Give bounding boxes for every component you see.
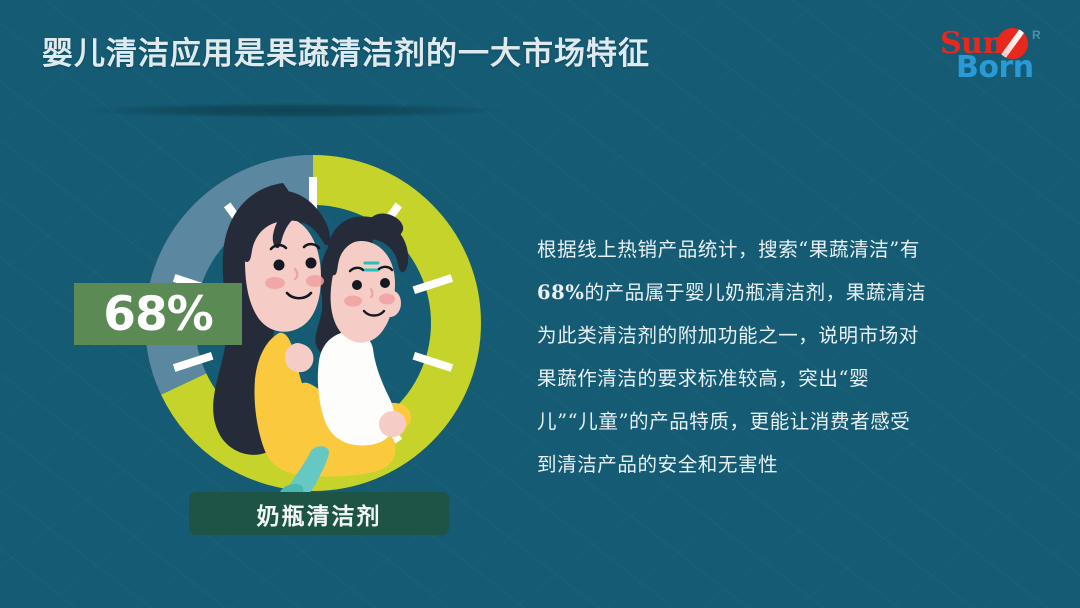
- slide-canvas: 婴儿清洁应用是果蔬清洁剂的一大市场特征 Sun Born R: [0, 0, 1080, 608]
- paragraph-line-2: 68%的产品属于婴儿奶瓶清洁剂，果蔬清洁: [537, 271, 1017, 314]
- child-blush-right: [379, 294, 395, 305]
- mother-blush-right: [306, 275, 324, 287]
- page-title: 婴儿清洁应用是果蔬清洁剂的一大市场特征: [42, 28, 650, 73]
- mother-blush-left: [265, 277, 285, 289]
- percentage-badge: 68%: [74, 283, 242, 345]
- paragraph-line-2-rest: 的产品属于婴儿奶瓶清洁剂，果蔬清洁: [584, 281, 926, 304]
- child-eye-left: [352, 280, 362, 290]
- paragraph-line-3: 为此类清洁剂的附加功能之一，说明市场对: [537, 314, 1017, 357]
- paragraph-bold-number: 68%: [537, 281, 584, 304]
- child-hand: [379, 411, 406, 437]
- paragraph-line-1: 根据线上热销产品统计，搜索“果蔬清洁”有: [537, 228, 1017, 271]
- paragraph-line-4: 果蔬作清洁的要求标准较高，突出“婴: [537, 357, 1017, 400]
- sun-dot-shape: [1020, 32, 1023, 35]
- child-head: [327, 214, 408, 343]
- mother-eye-right: [306, 258, 317, 269]
- child-blush-left: [344, 296, 362, 307]
- paragraph-line-6: 到清洁产品的安全和无害性: [537, 443, 1017, 486]
- category-label-pill: 奶瓶清洁剂: [189, 492, 449, 535]
- trademark-r-icon: R: [1032, 28, 1041, 42]
- category-label-text: 奶瓶清洁剂: [257, 497, 382, 531]
- mother-eye-left: [274, 260, 285, 271]
- paragraph-line-5: 儿”“儿童”的产品特质，更能让消费者感受: [537, 400, 1017, 443]
- child-eye-right: [380, 278, 390, 288]
- title-underline-divider: [84, 103, 504, 118]
- brand-logo: Sun Born R: [940, 26, 1058, 88]
- mother-hand: [285, 343, 313, 372]
- percentage-value: 68%: [103, 291, 213, 338]
- body-paragraph: 根据线上热销产品统计，搜索“果蔬清洁”有 68%的产品属于婴儿奶瓶清洁剂，果蔬清…: [537, 228, 1017, 486]
- sun-circle-icon: [997, 28, 1028, 59]
